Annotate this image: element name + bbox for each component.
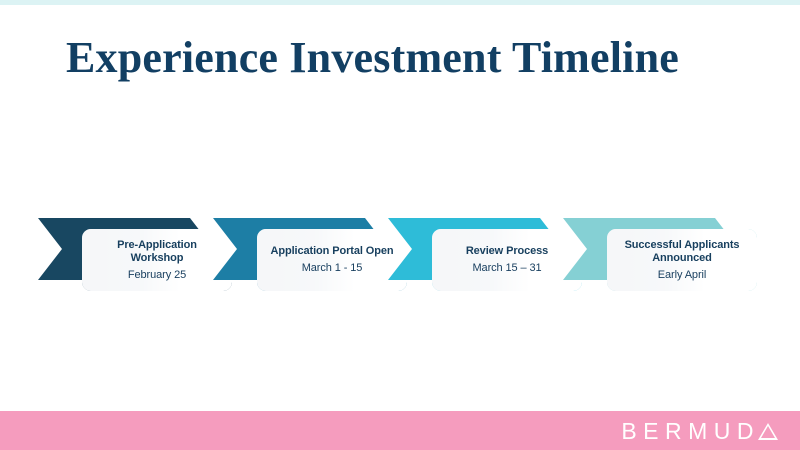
timeline-step-1[interactable]: Pre-Application Workshop February 25 <box>38 210 238 305</box>
step-title-line2-4: Announced <box>625 252 740 265</box>
top-accent-stripe <box>0 0 800 5</box>
brand-logo: BERMUD <box>621 418 778 444</box>
brand-wordmark: BERMUD <box>621 418 760 444</box>
step-card-4[interactable]: Successful Applicants Announced Early Ap… <box>607 229 757 291</box>
timeline-step-3[interactable]: Review Process March 15 – 31 <box>388 210 588 305</box>
timeline-step-4[interactable]: Successful Applicants Announced Early Ap… <box>563 210 763 305</box>
step-card-3[interactable]: Review Process March 15 – 31 <box>432 229 582 291</box>
step-card-1[interactable]: Pre-Application Workshop February 25 <box>82 229 232 291</box>
step-title-1: Pre-Application Workshop <box>117 239 197 265</box>
step-date-2: March 1 - 15 <box>302 262 363 275</box>
step-title-2: Application Portal Open <box>271 245 394 258</box>
step-date-4: Early April <box>658 269 706 282</box>
step-title-line1-3: Review Process <box>466 245 548 258</box>
page-title: Experience Investment Timeline <box>66 30 766 88</box>
step-card-2[interactable]: Application Portal Open March 1 - 15 <box>257 229 407 291</box>
slide-canvas: Experience Investment Timeline Pre-Appli… <box>0 0 800 450</box>
step-date-1: February 25 <box>128 269 186 282</box>
step-card-text-3: Review Process March 15 – 31 <box>432 229 582 291</box>
triangle-a-icon <box>758 423 778 440</box>
timeline-diagram: Pre-Application Workshop February 25 App… <box>0 210 800 305</box>
step-card-text-4: Successful Applicants Announced Early Ap… <box>607 229 757 291</box>
step-title-line1-1: Pre-Application <box>117 239 197 252</box>
timeline-step-2[interactable]: Application Portal Open March 1 - 15 <box>213 210 413 305</box>
step-date-3: March 15 – 31 <box>472 262 541 275</box>
step-card-text-1: Pre-Application Workshop February 25 <box>82 229 232 291</box>
step-title-4: Successful Applicants Announced <box>625 239 740 265</box>
step-title-line1-2: Application Portal Open <box>271 245 394 258</box>
step-title-line2-1: Workshop <box>117 252 197 265</box>
step-title-3: Review Process <box>466 245 548 258</box>
step-card-text-2: Application Portal Open March 1 - 15 <box>257 229 407 291</box>
step-title-line1-4: Successful Applicants <box>625 239 740 252</box>
